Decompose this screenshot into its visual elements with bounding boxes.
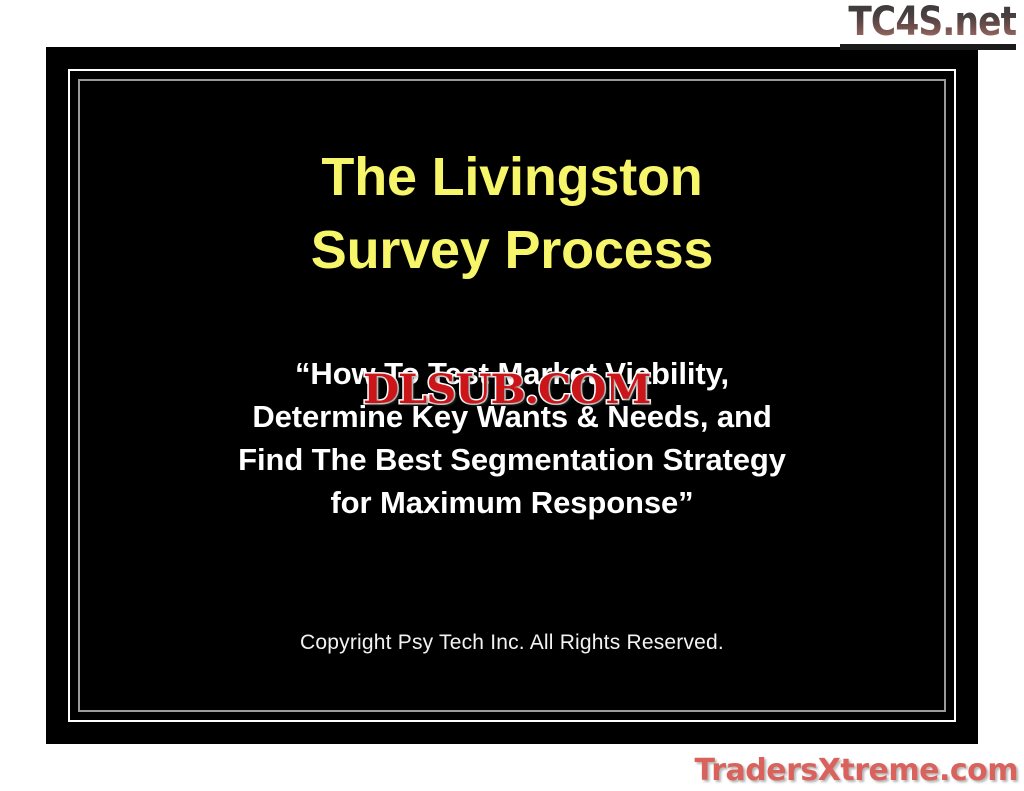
slide-subtitle: “How To Test Market Viability, Determine… [92, 352, 932, 524]
watermark-tc4s: TC4S.net [821, 2, 1016, 50]
slide-copyright-notice: Copyright Psy Tech Inc. All Rights Reser… [92, 630, 932, 656]
slide-panel: The Livingston Survey Process “How To Te… [46, 47, 978, 744]
slide-title: The Livingston Survey Process [92, 141, 932, 287]
watermark-tradersxtreme: TradersXtreme.com [695, 755, 1018, 787]
watermark-tc4s-text: TC4S.net [848, 2, 1016, 42]
slide-content: The Livingston Survey Process “How To Te… [92, 93, 932, 698]
